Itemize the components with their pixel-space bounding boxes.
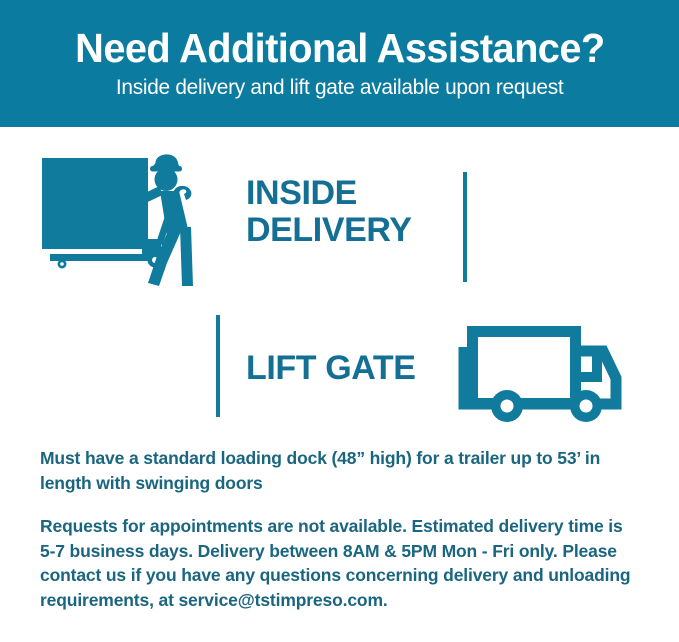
pallet-jack-worker-icon bbox=[36, 151, 236, 296]
divider-lift-gate bbox=[216, 315, 220, 417]
service-row-lift-gate: LIFT GATE bbox=[0, 302, 679, 437]
service-row-inside-delivery: INSIDE DELIVERY bbox=[0, 127, 679, 302]
service-label-line2: DELIVERY bbox=[246, 212, 412, 249]
service-label-inside-delivery: INSIDE DELIVERY bbox=[246, 175, 412, 248]
service-label-line1: LIFT GATE bbox=[246, 350, 416, 387]
requirements-paragraph-dock: Must have a standard loading dock (48” h… bbox=[40, 446, 640, 496]
header-banner: Need Additional Assistance? Inside deliv… bbox=[0, 0, 679, 127]
page-title: Need Additional Assistance? bbox=[75, 27, 604, 70]
service-label-line1: INSIDE bbox=[246, 175, 412, 212]
services-section: INSIDE DELIVERY LIFT GATE bbox=[0, 127, 679, 437]
divider-inside-delivery bbox=[463, 172, 467, 282]
page-subtitle: Inside delivery and lift gate available … bbox=[116, 76, 563, 100]
requirements-paragraph-scheduling: Requests for appointments are not availa… bbox=[40, 514, 640, 613]
delivery-requirements-text: Must have a standard loading dock (48” h… bbox=[40, 446, 640, 613]
service-label-lift-gate: LIFT GATE bbox=[246, 350, 416, 387]
box-truck-icon bbox=[455, 320, 655, 430]
